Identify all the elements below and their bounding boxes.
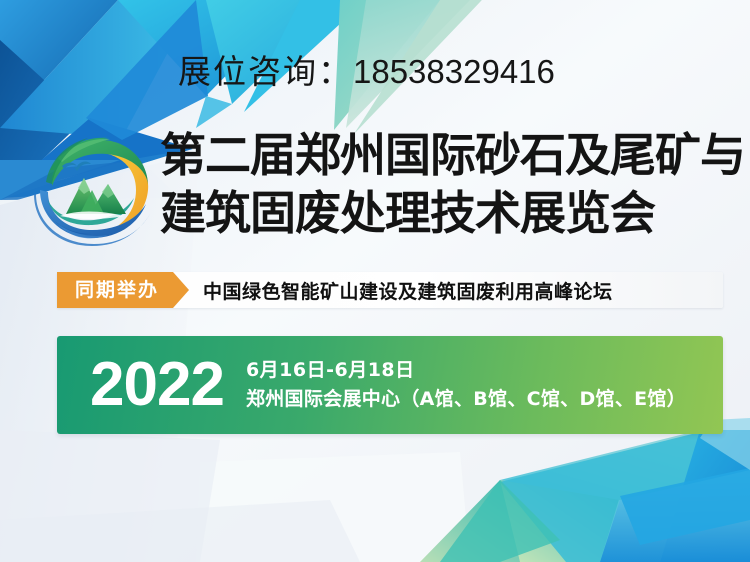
concurrent-event-tag: 同期举办 xyxy=(57,272,173,308)
concurrent-forum-bar: 同期举办 中国绿色智能矿山建设及建筑固废利用高峰论坛 xyxy=(57,272,723,308)
booth-contact-line: 展位咨询：18538329416 xyxy=(178,52,555,92)
event-venue: 郑州国际会展中心（A馆、B馆、C馆、D馆、E馆） xyxy=(246,384,686,414)
forum-name-text: 中国绿色智能矿山建设及建筑固废利用高峰论坛 xyxy=(203,277,613,304)
booth-contact-label: 展位咨询： xyxy=(178,53,353,90)
event-year: 2022 xyxy=(90,354,224,416)
event-date-range: 6月16日-6月18日 xyxy=(246,357,686,384)
exhibition-title-block: 第二届郑州国际砂石及尾矿与 建筑固废处理技术展览会 xyxy=(160,126,746,242)
date-venue-details: 6月16日-6月18日 郑州国际会展中心（A馆、B馆、C馆、D馆、E馆） xyxy=(246,357,686,414)
booth-contact-phone: 18538329416 xyxy=(353,53,555,90)
poster-canvas: 展位咨询：18538329416 xyxy=(0,0,750,562)
date-venue-banner: 2022 6月16日-6月18日 郑州国际会展中心（A馆、B馆、C馆、D馆、E馆… xyxy=(57,336,723,434)
exhibition-title-line-2: 建筑固废处理技术展览会 xyxy=(160,184,746,242)
exhibition-emblem-logo xyxy=(28,128,160,250)
exhibition-title-line-1: 第二届郑州国际砂石及尾矿与 xyxy=(160,126,746,184)
